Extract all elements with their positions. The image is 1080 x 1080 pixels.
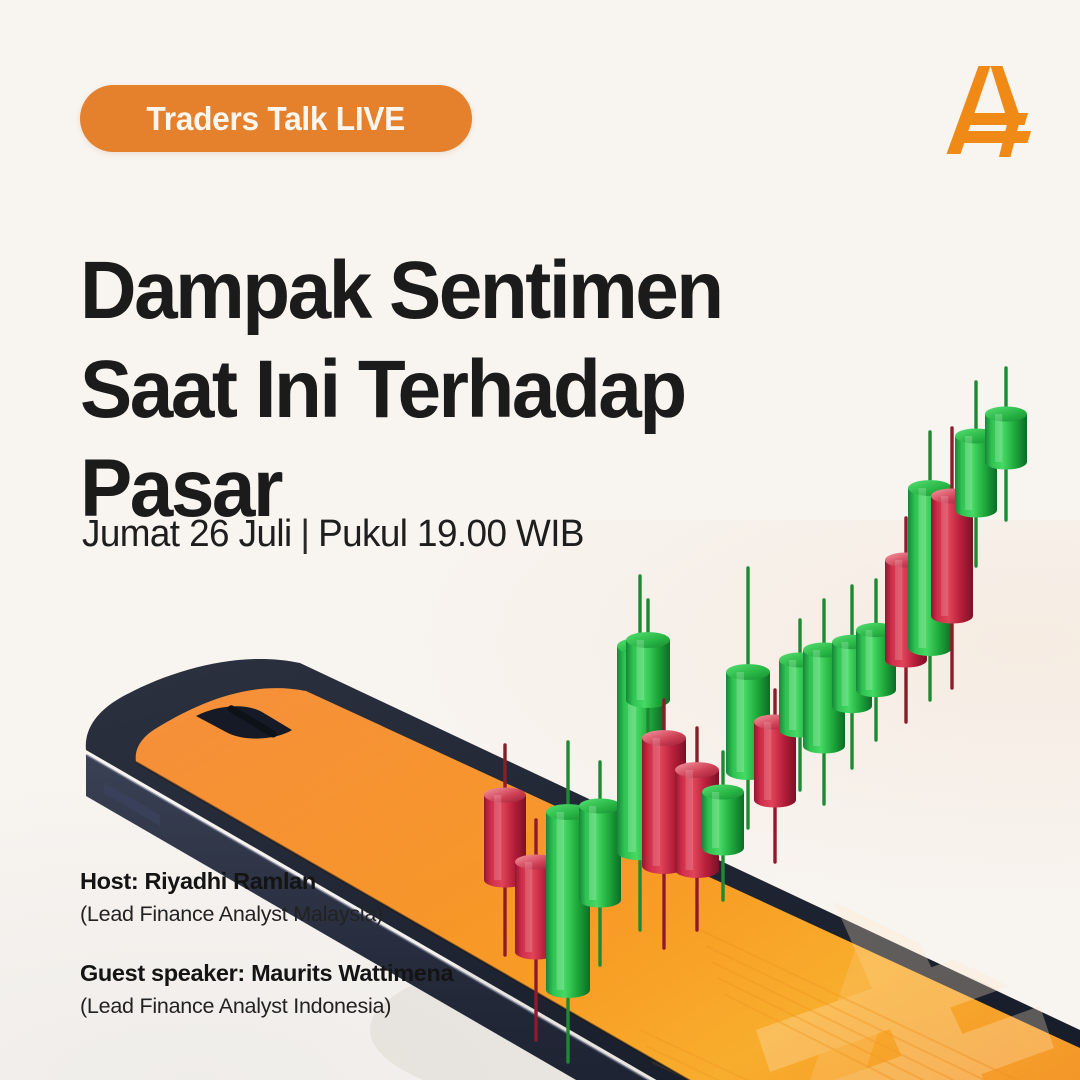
live-badge: Traders Talk LIVE [80, 85, 472, 152]
speakers-block: Host: Riyadhi Ramlan (Lead Finance Analy… [80, 866, 600, 1021]
speaker-host-role: (Lead Finance Analyst Malaysia) [80, 899, 600, 929]
headline-line-1: Dampak Sentimen [80, 241, 806, 340]
promo-poster: Traders Talk LIVE Dampak Sentimen Saat I… [0, 0, 1080, 1080]
brand-a-monogram-icon [938, 58, 1034, 162]
speaker-host-name: Host: Riyadhi Ramlan [80, 866, 600, 896]
live-badge-label: Traders Talk LIVE [147, 100, 406, 138]
speaker-guest: Guest speaker: Maurits Wattimena (Lead F… [80, 958, 600, 1021]
speaker-host: Host: Riyadhi Ramlan (Lead Finance Analy… [80, 866, 600, 929]
speaker-guest-role: (Lead Finance Analyst Indonesia) [80, 991, 600, 1021]
brand-logo [938, 58, 1034, 162]
speaker-guest-name: Guest speaker: Maurits Wattimena [80, 958, 600, 988]
